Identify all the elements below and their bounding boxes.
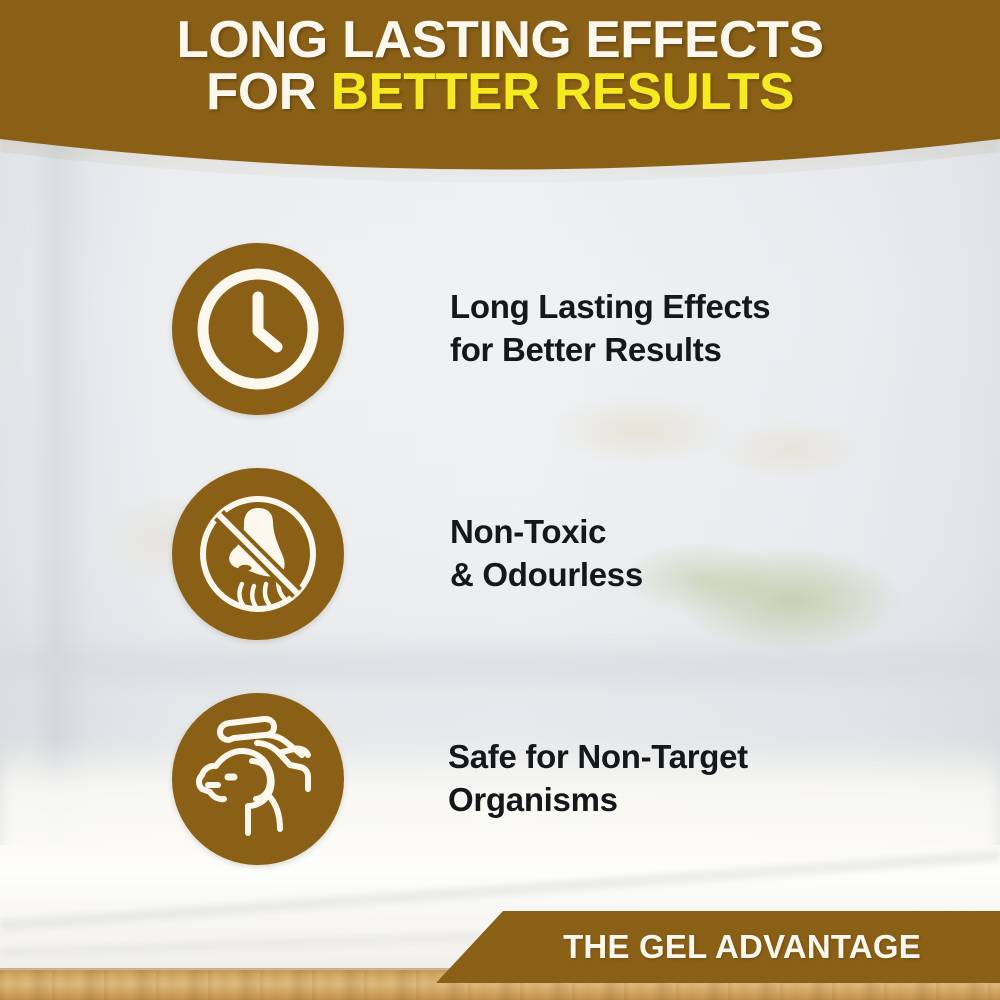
feature-label: Long Lasting Effects for Better Results <box>450 286 770 372</box>
hand-petting-dog-icon <box>172 693 344 865</box>
product-feature-infographic: LONG LASTING EFFECTS FOR BETTER RESULTS … <box>0 0 1000 1000</box>
feature-item-long-lasting: Long Lasting Effects for Better Results <box>172 243 770 415</box>
feature-item-safe-non-target: Safe for Non-Target Organisms <box>172 693 748 865</box>
feature-label: Safe for Non-Target Organisms <box>448 736 748 822</box>
no-odour-nose-icon <box>172 468 344 640</box>
footer-banner-label: THE GEL ADVANTAGE <box>509 928 921 966</box>
footer-banner: THE GEL ADVANTAGE <box>430 911 1000 983</box>
feature-item-non-toxic: Non-Toxic & Odourless <box>172 468 643 640</box>
feature-label: Non-Toxic & Odourless <box>450 511 643 597</box>
feature-list: Long Lasting Effects for Better Results <box>0 0 1000 1000</box>
clock-icon <box>172 243 344 415</box>
